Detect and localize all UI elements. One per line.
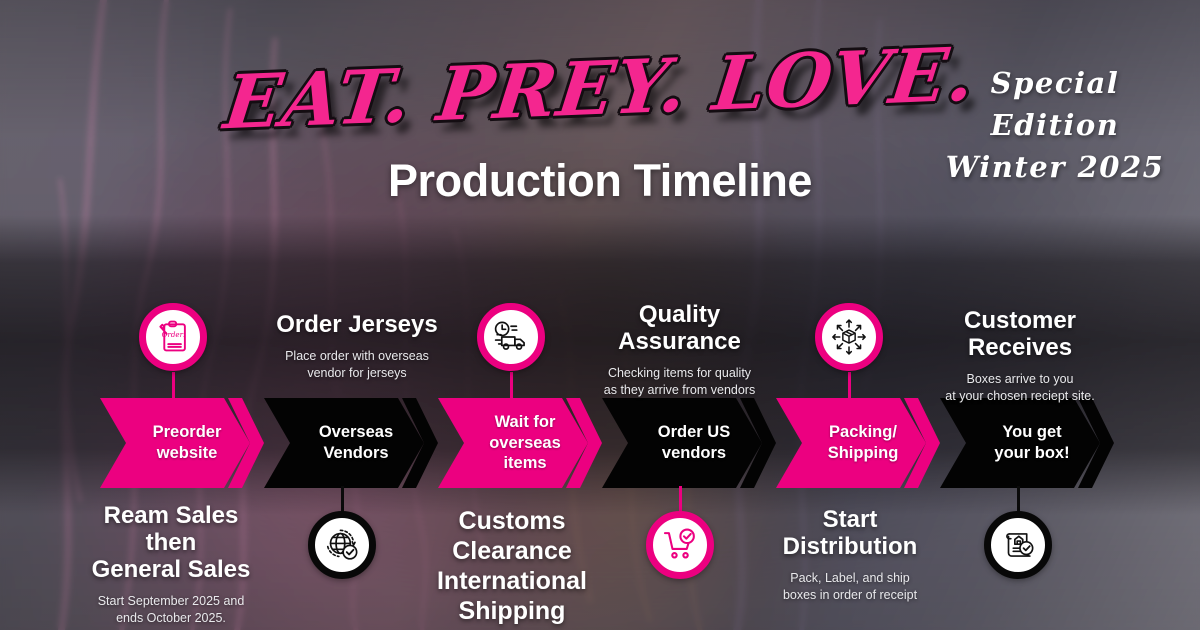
caption-title: QualityAssurance [562, 302, 797, 356]
connector-line-5 [848, 372, 851, 400]
caption-ream-sales: Ream SalesthenGeneral Sales Start Septem… [60, 503, 282, 626]
caption-subtitle: Boxes arrive to youat your chosen reciep… [906, 371, 1134, 405]
connector-line-6 [1017, 486, 1020, 514]
delivery-receipt-icon [984, 511, 1052, 579]
caption-title: StartDistribution [740, 507, 960, 561]
caption-customer-receives: CustomerReceives Boxes arrive to youat y… [906, 308, 1134, 405]
chevron-label-overseas-vendors[interactable]: OverseasVendors [264, 398, 424, 488]
caption-start-distribution: StartDistribution Pack, Label, and shipb… [740, 507, 960, 604]
clipboard-order-icon: Order! [139, 303, 207, 371]
caption-subtitle: Start September 2025 andends October 202… [60, 593, 282, 627]
chevron-step-4: Order USvendors [602, 398, 776, 488]
connector-line-4 [679, 486, 682, 514]
timeline-chevron-bar: Preorderwebsite OverseasVendors Wait for… [100, 398, 1125, 488]
chevron-label-packing-shipping[interactable]: Packing/Shipping [776, 398, 926, 488]
truck-clock-icon [477, 303, 545, 371]
chevron-text: OverseasVendors [315, 422, 397, 463]
infographic-canvas: EAT. PREY. LOVE. Special Edition Winter … [0, 0, 1200, 630]
chevron-text: Preorderwebsite [149, 422, 226, 463]
caption-customs-clearance: CustomsClearanceInternationalShipping [400, 506, 624, 626]
chevron-step-3: Wait foroverseasitems [438, 398, 602, 488]
caption-subtitle: Place order with overseasvendor for jers… [232, 348, 482, 382]
special-edition-line1: Special Edition [935, 62, 1175, 146]
chevron-step-1: Preorderwebsite [100, 398, 264, 488]
chevron-text: Wait foroverseasitems [485, 412, 565, 474]
chevron-text: Packing/Shipping [824, 422, 903, 463]
connector-line-2 [341, 486, 344, 514]
page-title: Production Timeline [0, 155, 1200, 207]
svg-text:Order!: Order! [162, 330, 186, 339]
chevron-step-6: You getyour box! [940, 398, 1114, 488]
chevron-text: You getyour box! [990, 422, 1073, 463]
chevron-label-order-us-vendors[interactable]: Order USvendors [602, 398, 762, 488]
chevron-text: Order USvendors [654, 422, 734, 463]
chevron-label-preorder-website[interactable]: Preorderwebsite [100, 398, 250, 488]
chevron-step-5: Packing/Shipping [776, 398, 940, 488]
caption-subtitle: Pack, Label, and shipboxes in order of r… [740, 570, 960, 604]
box-distribute-icon [815, 303, 883, 371]
caption-subtitle: Checking items for qualityas they arrive… [562, 365, 797, 399]
cart-check-icon [646, 511, 714, 579]
connector-line-1 [172, 372, 175, 400]
caption-title: CustomerReceives [906, 308, 1134, 362]
chevron-label-wait-for-overseas-items[interactable]: Wait foroverseasitems [438, 398, 588, 488]
globe-check-icon [308, 511, 376, 579]
chevron-step-2: OverseasVendors [264, 398, 438, 488]
connector-line-3 [510, 372, 513, 400]
caption-quality-assurance: QualityAssurance Checking items for qual… [562, 302, 797, 399]
caption-title: Order Jerseys [232, 312, 482, 339]
caption-title: Ream SalesthenGeneral Sales [60, 503, 282, 584]
caption-title: CustomsClearanceInternationalShipping [400, 506, 624, 626]
caption-order-jerseys: Order Jerseys Place order with overseasv… [232, 312, 482, 382]
chevron-label-you-get-your-box[interactable]: You getyour box! [940, 398, 1100, 488]
